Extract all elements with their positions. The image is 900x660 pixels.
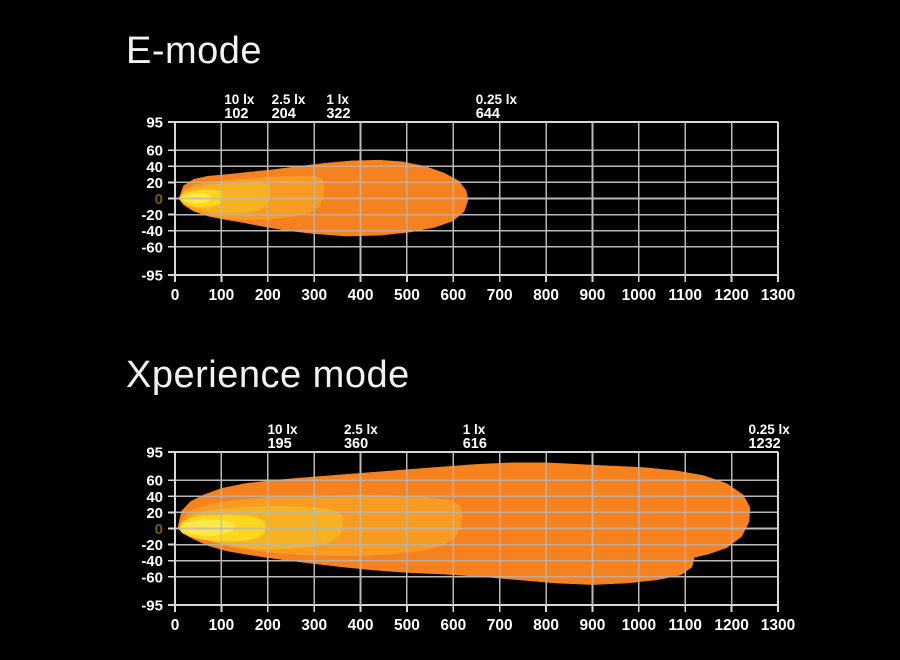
x-axis-tick-label: 600 <box>440 617 466 634</box>
x-axis-tick-label: 1100 <box>668 287 702 304</box>
lux-annotation-unit: 0.25 lx <box>476 92 518 107</box>
y-axis-tick-label: 40 <box>146 159 163 176</box>
x-axis-tick-label: 700 <box>487 287 513 304</box>
lux-annotation: 2.5 lx204 <box>272 92 306 122</box>
chart-title-e-mode: E-mode <box>126 30 262 73</box>
x-axis-tick-label: 1000 <box>622 617 656 634</box>
x-axis-tick-label: 800 <box>533 287 559 304</box>
x-axis-tick-label: 300 <box>301 617 327 634</box>
chart-panel-e-mode: E-mode 956040200-20-40-60-95010020030040… <box>0 0 900 330</box>
lux-annotation-distance: 322 <box>326 106 350 122</box>
plot-area-xperience-mode: 956040200-20-40-60-950100200300400500600… <box>0 420 900 635</box>
y-axis-tick-label: -60 <box>141 569 163 586</box>
lux-annotation-distance: 360 <box>344 436 368 452</box>
x-axis-tick-label: 700 <box>487 617 513 634</box>
lux-annotation: 10 lx195 <box>267 422 298 452</box>
lux-annotation-unit: 2.5 lx <box>272 92 306 107</box>
y-axis-tick-label: -95 <box>141 268 163 285</box>
lux-annotation: 1 lx322 <box>326 92 350 122</box>
x-axis-tick-label: 900 <box>580 287 606 304</box>
lux-annotation-unit: 10 lx <box>267 422 298 437</box>
y-axis-tick-label: -60 <box>141 239 163 256</box>
lux-annotation-unit: 10 lx <box>224 92 255 107</box>
x-axis-tick-label: 1300 <box>761 617 795 634</box>
x-axis-tick-label: 200 <box>255 617 281 634</box>
lux-annotation: 0.25 lx644 <box>476 92 518 122</box>
lux-annotation: 1 lx616 <box>463 422 487 452</box>
lux-annotation-distance: 204 <box>272 106 296 122</box>
y-axis-tick-label: 20 <box>146 505 163 522</box>
x-axis-tick-label: 500 <box>394 617 420 634</box>
beam-pattern-page: E-mode 956040200-20-40-60-95010020030040… <box>0 0 900 660</box>
y-axis-tick-label: -95 <box>141 598 163 615</box>
beam-diagram-xperience-mode: 956040200-20-40-60-950100200300400500600… <box>0 420 900 635</box>
x-axis-tick-label: 1300 <box>761 287 795 304</box>
x-axis-tick-label: 300 <box>301 287 327 304</box>
x-axis-tick-label: 100 <box>208 617 234 634</box>
y-axis-tick-label: -40 <box>141 553 163 570</box>
y-axis-tick-label: 0 <box>155 191 163 208</box>
y-axis-tick-label: 95 <box>146 445 163 462</box>
lux-annotation-distance: 195 <box>267 436 291 452</box>
chart-title-xperience-mode: Xperience mode <box>126 354 410 397</box>
plot-area-e-mode: 956040200-20-40-60-950100200300400500600… <box>0 90 900 305</box>
x-axis-tick-label: 100 <box>208 287 234 304</box>
x-axis-tick-label: 400 <box>348 617 374 634</box>
lux-annotation-unit: 1 lx <box>463 422 486 437</box>
chart-panel-xperience-mode: Xperience mode 956040200-20-40-60-950100… <box>0 330 900 660</box>
y-axis-tick-label: -40 <box>141 223 163 240</box>
lux-annotation: 10 lx102 <box>224 92 255 122</box>
y-axis-tick-label: -20 <box>141 537 163 554</box>
lux-annotation-unit: 1 lx <box>326 92 349 107</box>
y-axis-tick-label: 0 <box>155 521 163 538</box>
x-axis-tick-label: 800 <box>533 617 559 634</box>
y-axis-tick-label: 20 <box>146 175 163 192</box>
x-axis-tick-label: 600 <box>440 287 466 304</box>
x-axis-tick-label: 500 <box>394 287 420 304</box>
lux-annotation-distance: 102 <box>224 106 248 122</box>
lux-annotation-unit: 0.25 lx <box>748 422 790 437</box>
x-axis-tick-label: 1200 <box>714 617 748 634</box>
x-axis-tick-label: 1200 <box>714 287 748 304</box>
x-axis-tick-label: 0 <box>171 617 180 634</box>
y-axis-tick-label: -20 <box>141 207 163 224</box>
lux-annotation: 2.5 lx360 <box>344 422 378 452</box>
lux-annotation-distance: 644 <box>476 106 500 122</box>
lux-annotation-distance: 1232 <box>748 436 780 452</box>
beam-diagram-e-mode: 956040200-20-40-60-950100200300400500600… <box>0 90 900 305</box>
x-axis-tick-label: 200 <box>255 287 281 304</box>
y-axis-tick-label: 60 <box>146 473 163 490</box>
x-axis-tick-label: 900 <box>580 617 606 634</box>
lux-annotation-unit: 2.5 lx <box>344 422 378 437</box>
x-axis-tick-label: 0 <box>171 287 180 304</box>
lux-annotation-distance: 616 <box>463 436 487 452</box>
y-axis-tick-label: 60 <box>146 143 163 160</box>
y-axis-tick-label: 95 <box>146 115 163 132</box>
lux-annotation: 0.25 lx1232 <box>748 422 790 452</box>
x-axis-tick-label: 400 <box>348 287 374 304</box>
y-axis-tick-label: 40 <box>146 489 163 506</box>
x-axis-tick-label: 1000 <box>622 287 656 304</box>
x-axis-tick-label: 1100 <box>668 617 702 634</box>
